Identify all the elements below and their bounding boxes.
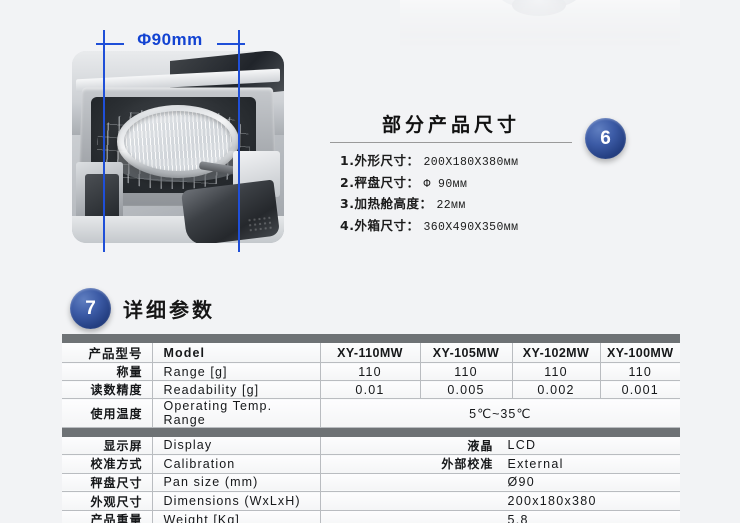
cell-range-v4: 110 <box>600 363 680 381</box>
cell-dimensions-en: Dimensions (WxLxH) <box>152 492 320 511</box>
cell-model-4: XY-100MW <box>600 343 680 363</box>
step-badge-7-number: 7 <box>85 298 96 320</box>
list-item: 4.外箱尺寸： 360X490X350мм <box>340 216 573 238</box>
table-row: 产品型号 Model XY-110MW XY-105MW XY-102MW XY… <box>62 343 680 363</box>
cell-model-1: XY-110MW <box>320 343 420 363</box>
value-cn: 外部校准 <box>321 455 508 472</box>
cell-temp-en: Operating Temp. Range <box>152 399 320 428</box>
dimensions-divider <box>330 142 572 143</box>
cell-range-v2: 110 <box>420 363 512 381</box>
photo-tongs <box>181 180 280 243</box>
cell-range-v1: 110 <box>320 363 420 381</box>
cell-range-en: Range [g] <box>152 363 320 381</box>
table-row: 显示屏 Display 液晶 LCD <box>62 437 680 455</box>
step-badge-6: 6 <box>585 118 626 159</box>
step-badge-7: 7 <box>70 288 111 329</box>
photo-tongs-grip-dots <box>247 215 273 235</box>
value-pair: 外部校准 External <box>321 455 681 473</box>
list-item: 2.秤盘尺寸： Φ 90мм <box>340 173 573 195</box>
spec-table-wrapper: 产品型号 Model XY-110MW XY-105MW XY-102MW XY… <box>62 334 680 523</box>
value-pair: 液晶 LCD <box>321 437 681 455</box>
value-en: 200x180x380 <box>507 494 680 508</box>
cell-readability-v1: 0.01 <box>320 381 420 399</box>
cell-pansize-en: Pan size (mm) <box>152 473 320 492</box>
cell-calibration-value: 外部校准 External <box>320 455 680 474</box>
cell-calibration-cn: 校准方式 <box>62 455 152 474</box>
cell-model-2: XY-105MW <box>420 343 512 363</box>
dimensions-list: 1.外形尺寸： 200X180X380мм 2.秤盘尺寸： Φ 90мм 3.加… <box>329 151 573 237</box>
cell-readability-cn: 读数精度 <box>62 381 152 399</box>
callout-right-arrow <box>217 43 245 45</box>
value-cn: 液晶 <box>321 437 508 454</box>
step-badge-6-number: 6 <box>600 128 611 150</box>
dim-label: 加热舱高度： <box>354 196 432 211</box>
dim-index: 3. <box>340 196 354 211</box>
cell-weight-value: 5.8 <box>320 510 680 523</box>
dim-value: 200X180X380мм <box>423 156 518 169</box>
dim-index: 1. <box>340 153 354 168</box>
dim-value: 360X490X350мм <box>423 221 518 234</box>
dim-value: 22мм <box>436 199 465 212</box>
value-pair: 200x180x380 <box>321 492 681 510</box>
cell-display-cn: 显示屏 <box>62 437 152 455</box>
cell-weight-cn: 产品重量 <box>62 510 152 523</box>
dim-index: 2. <box>340 175 354 190</box>
table-row: 秤盘尺寸 Pan size (mm) Ø90 <box>62 473 680 492</box>
cell-dimensions-cn: 外观尺寸 <box>62 492 152 511</box>
cell-temp-merged: 5℃~35℃ <box>320 399 680 428</box>
value-en: LCD <box>507 438 680 452</box>
cell-readability-v3: 0.002 <box>512 381 600 399</box>
product-photo-card <box>72 51 284 243</box>
dim-label: 外箱尺寸： <box>354 218 419 233</box>
cell-model-en: Model <box>152 343 320 363</box>
table-row: 称量 Range [g] 110 110 110 110 <box>62 363 680 381</box>
cell-display-en: Display <box>152 437 320 455</box>
photo-pan-inner <box>124 111 232 171</box>
photo-left-dark-module <box>85 174 119 220</box>
table-row: 外观尺寸 Dimensions (WxLxH) 200x180x380 <box>62 492 680 511</box>
table-row: 使用温度 Operating Temp. Range 5℃~35℃ <box>62 399 680 428</box>
cell-calibration-en: Calibration <box>152 455 320 474</box>
cell-readability-v4: 0.001 <box>600 381 680 399</box>
cell-pansize-value: Ø90 <box>320 473 680 492</box>
cell-model-3: XY-102MW <box>512 343 600 363</box>
cell-range-v3: 110 <box>512 363 600 381</box>
list-item: 1.外形尺寸： 200X180X380мм <box>340 151 573 173</box>
dim-index: 4. <box>340 218 354 233</box>
section-title: 详细参数 <box>123 294 215 323</box>
product-spec-page: Φ90mm 6 部分产品尺寸 1.外形尺寸： 200X180X380мм 2.秤… <box>0 0 740 523</box>
table-row: 校准方式 Calibration 外部校准 External <box>62 455 680 474</box>
dim-label: 秤盘尺寸： <box>354 175 419 190</box>
cell-dimensions-value: 200x180x380 <box>320 492 680 511</box>
value-pair: 5.8 <box>321 511 681 523</box>
value-pair: Ø90 <box>321 474 681 492</box>
dimensions-title: 部分产品尺寸 <box>329 110 573 142</box>
spec-table: 产品型号 Model XY-110MW XY-105MW XY-102MW XY… <box>62 334 680 523</box>
dimensions-info-block: 部分产品尺寸 1.外形尺寸： 200X180X380мм 2.秤盘尺寸： Φ 9… <box>329 110 573 237</box>
dim-label: 外形尺寸： <box>354 153 419 168</box>
table-row: 读数精度 Readability [g] 0.01 0.005 0.002 0.… <box>62 381 680 399</box>
cell-model-cn: 产品型号 <box>62 343 152 363</box>
value-en: External <box>507 457 680 471</box>
table-row: 产品重量 Weight [Kg] 5.8 <box>62 510 680 523</box>
cell-readability-v2: 0.005 <box>420 381 512 399</box>
table-middle-bar <box>62 428 680 437</box>
callout-left-arrow <box>96 43 124 45</box>
cell-range-cn: 称量 <box>62 363 152 381</box>
cell-readability-en: Readability [g] <box>152 381 320 399</box>
value-en: Ø90 <box>507 475 680 489</box>
product-photo <box>72 51 284 243</box>
cell-weight-en: Weight [Kg] <box>152 510 320 523</box>
value-en: 5.8 <box>507 513 680 523</box>
list-item: 3.加热舱高度： 22мм <box>340 194 573 216</box>
dim-value: Φ 90мм <box>423 178 467 191</box>
faded-product-image-top <box>392 0 688 54</box>
cell-pansize-cn: 秤盘尺寸 <box>62 473 152 492</box>
table-top-bar <box>62 334 680 343</box>
cell-temp-cn: 使用温度 <box>62 399 152 428</box>
cell-display-value: 液晶 LCD <box>320 437 680 455</box>
callout-label: Φ90mm <box>118 30 222 50</box>
